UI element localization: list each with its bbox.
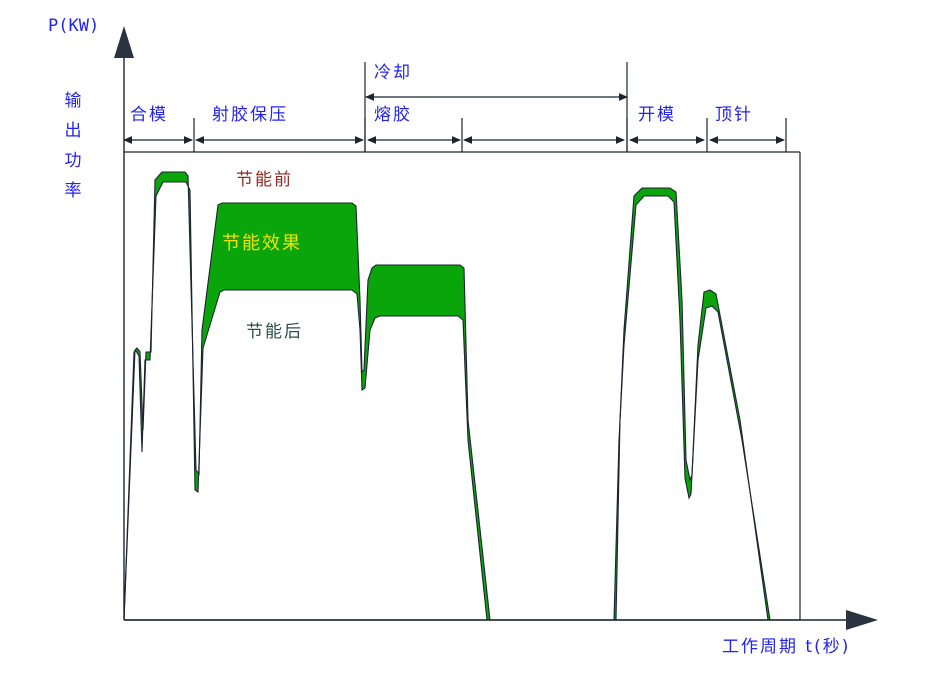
phase-label-injection-hold: 射胶保压 xyxy=(212,107,288,124)
phase-label-mold-open: 开模 xyxy=(638,107,676,124)
y-axis-arrow-icon xyxy=(114,26,134,58)
phase-label-melting: 熔胶 xyxy=(374,107,412,124)
phase-label-cooling: 冷却 xyxy=(374,65,412,82)
chart-root: P(KW) 输出功率 工作周期 t(秒) 冷却 合模射胶保压熔胶开模顶针 节能前… xyxy=(0,0,929,683)
y-axis-title-char: 率 xyxy=(62,176,84,206)
y-axis-title-char: 输 xyxy=(62,86,84,116)
phase-label-ejector-pin: 顶针 xyxy=(715,107,753,124)
chart-canvas xyxy=(0,0,929,683)
y-axis-unit-label: P(KW) xyxy=(48,18,99,35)
y-axis-title: 输出功率 xyxy=(62,86,84,206)
annotation-before-saving: 节能前 xyxy=(236,172,293,189)
x-axis-title: 工作周期 t(秒) xyxy=(722,639,850,656)
annotation-saving-effect: 节能效果 xyxy=(222,235,302,253)
annotation-after-saving: 节能后 xyxy=(246,324,303,341)
y-axis-title-char: 功 xyxy=(62,146,84,176)
y-axis-title-char: 出 xyxy=(62,116,84,146)
phase-label-mold-close: 合模 xyxy=(130,107,168,124)
x-axis-arrow-icon xyxy=(846,610,878,630)
